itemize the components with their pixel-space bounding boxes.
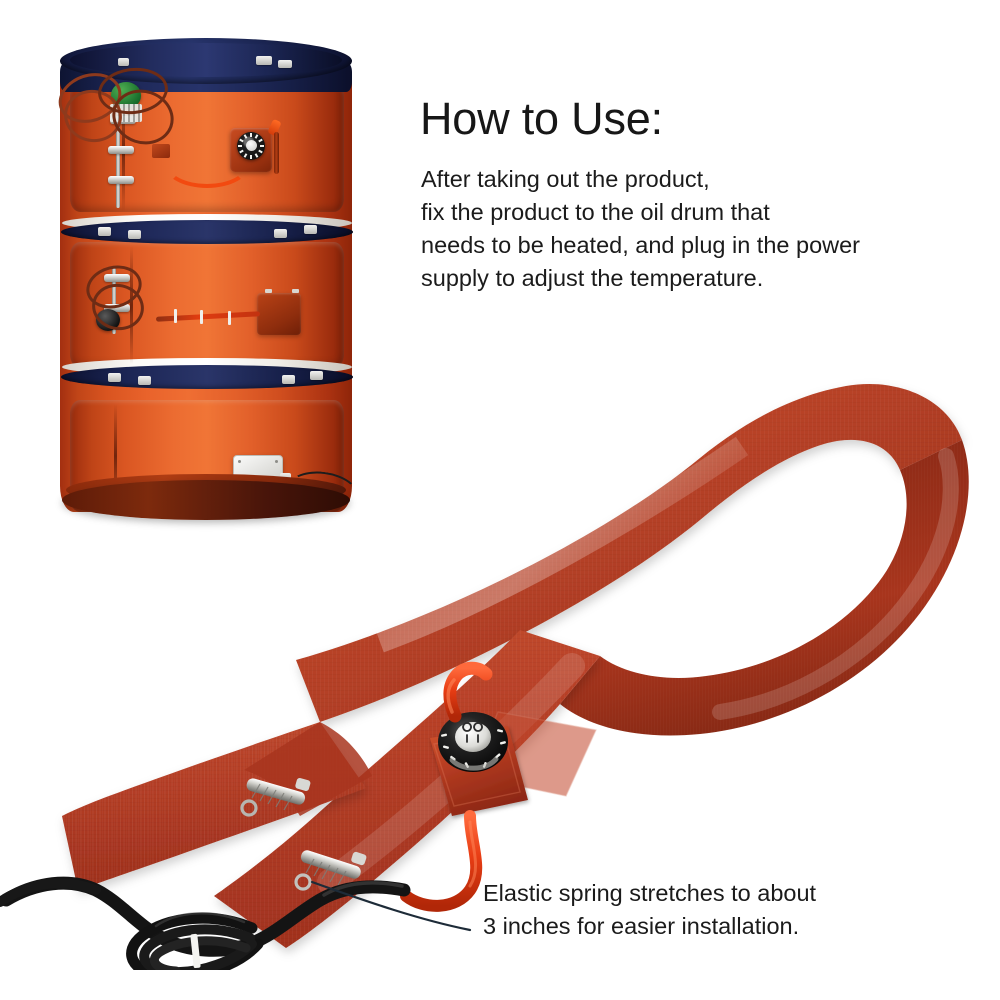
tension-hook [108, 176, 134, 184]
tension-hook [108, 146, 134, 154]
black-power-cable [0, 883, 404, 970]
spring-caption-line-1: Elastic spring stretches to about [483, 877, 953, 910]
drum-lever-stem [274, 132, 279, 174]
drum-dial-ticks [237, 132, 265, 160]
page-title: How to Use: [420, 95, 663, 142]
rim-clip [118, 58, 129, 66]
instructions-line-4: supply to adjust the temperature. [421, 262, 891, 295]
box-tab [265, 289, 272, 293]
instructions-line-3: needs to be heated, and plug in the powe… [421, 229, 891, 262]
drum-top-opening [70, 43, 342, 77]
cable-tie [174, 309, 177, 323]
belt-loop-fold [560, 440, 969, 736]
small-connector-box [152, 144, 170, 158]
instructions-line-2: fix the product to the oil drum that [421, 196, 891, 229]
spring-caption: Elastic spring stretches to about 3 inch… [483, 877, 953, 943]
instructions-paragraph: After taking out the product, fix the pr… [421, 163, 891, 295]
silicone-heater-belt-photo [0, 330, 1000, 970]
rim-clip [278, 60, 292, 68]
ring-clip [98, 227, 111, 236]
rim-clip [256, 56, 272, 65]
cable-tie [200, 310, 203, 324]
instructions-line-1: After taking out the product, [421, 163, 891, 196]
box-tab [292, 289, 299, 293]
spring-caption-line-2: 3 inches for easier installation. [483, 910, 953, 943]
thermostat-control [430, 712, 596, 816]
thermostat-knob-face [455, 722, 491, 752]
cable-tie [228, 311, 231, 325]
ring-clip [128, 230, 141, 239]
ring-clip [304, 225, 317, 234]
ring-clip [274, 229, 287, 238]
infographic-canvas: How to Use: After taking out the product… [0, 0, 1000, 1000]
mid-junction-box [257, 293, 301, 335]
